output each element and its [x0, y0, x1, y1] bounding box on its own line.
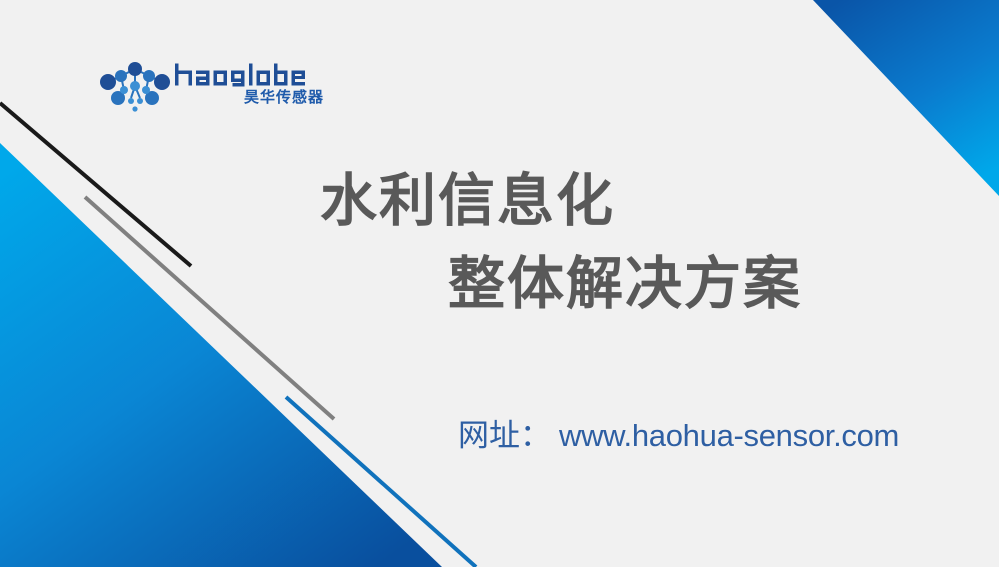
page-title: 水利信息化 整体解决方案 — [0, 160, 999, 326]
website-label: 网址： — [458, 418, 551, 454]
page-title-line-1: 水利信息化 — [320, 160, 999, 243]
haoglobe-network-dots-logo-icon — [98, 60, 172, 116]
title-slide: 昊华传感器 水利信息化 整体解决方案 网址：www.haohua-sensor.… — [0, 0, 999, 567]
brand-logo: 昊华传感器 — [98, 58, 323, 120]
website-line: 网址：www.haohua-sensor.com — [458, 420, 899, 452]
brand-subtitle-cn: 昊华传感器 — [244, 90, 324, 105]
page-title-line-2: 整体解决方案 — [448, 243, 999, 326]
website-url[interactable]: www.haohua-sensor.com — [559, 418, 899, 453]
haoglobe-wordmark-icon — [174, 58, 306, 92]
brand-logo-text: 昊华传感器 — [174, 58, 324, 118]
